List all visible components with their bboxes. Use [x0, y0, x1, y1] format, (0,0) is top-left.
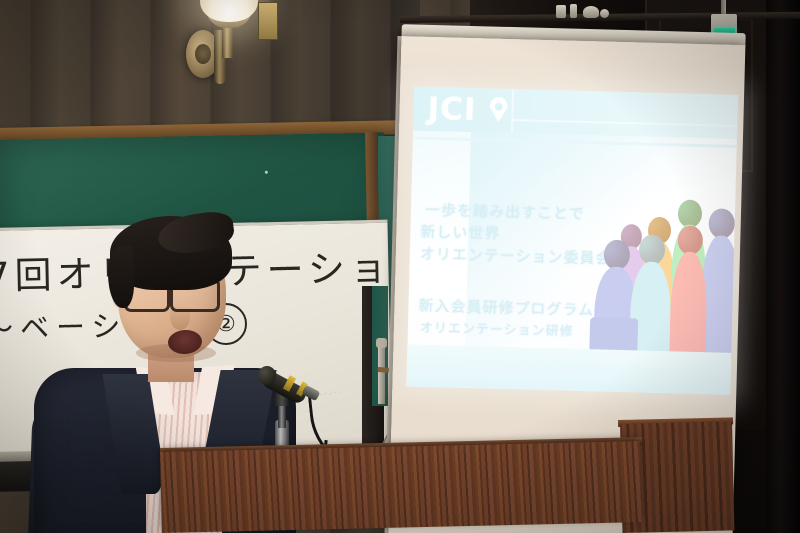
slide-text-line-2: 新しい世界	[420, 221, 501, 244]
ledge-object	[556, 5, 566, 18]
silhouette-head	[677, 225, 703, 255]
slide-text-line-5: オリエンテーション研修	[420, 317, 574, 340]
pole	[378, 344, 385, 404]
ledge-object	[600, 9, 609, 18]
silhouette-head	[708, 208, 735, 239]
slide-text-line-3: オリエンテーション委員会	[420, 243, 612, 269]
ledge-object	[583, 6, 599, 18]
silhouette-head	[639, 234, 666, 265]
jci-pin-icon	[488, 96, 509, 122]
pole-cap	[376, 338, 387, 348]
lecture-hall-photo: 7回オリエンテーション委員会 〜ベーシック ② JCI 一歩を踏み	[0, 0, 800, 533]
wall-plaque	[258, 2, 278, 40]
chalk-mark	[265, 171, 268, 174]
jci-logo-text: JCI	[427, 91, 477, 128]
projected-slide: JCI 一歩を踏み出すことで 新しい世界 オリエンテーション委員会 新入会員研修…	[406, 87, 738, 395]
ledge-object	[570, 4, 577, 18]
wooden-lectern	[160, 441, 642, 533]
microphone-grille-head	[258, 366, 276, 385]
slide-floor-band	[406, 344, 731, 394]
silhouette-head	[603, 240, 630, 271]
slide-header-bar: JCI	[413, 87, 738, 139]
dark-curtain	[766, 0, 800, 533]
slide-text-line-1: 一歩を踏み出すことで	[425, 199, 585, 224]
presenter-sideburn	[108, 246, 134, 308]
header-rule	[511, 119, 737, 127]
header-divider	[511, 89, 514, 133]
silhouette-head	[678, 199, 703, 228]
